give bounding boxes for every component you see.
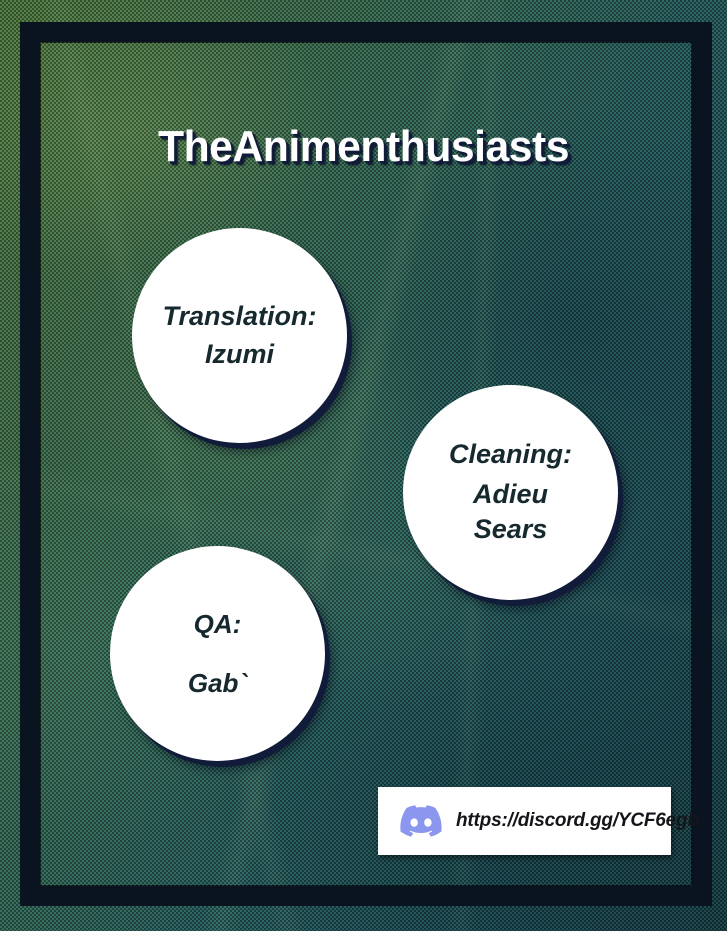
- page-title: TheAnimenthusiasts: [158, 122, 643, 172]
- credits-page: TheAnimenthusiasts Translation: Izumi Cl…: [0, 0, 727, 931]
- discord-invite-bar[interactable]: https://discord.gg/YCF6egb: [378, 787, 671, 855]
- content-area: TheAnimenthusiasts Translation: Izumi Cl…: [40, 42, 692, 886]
- credit-person-name: Izumi: [205, 338, 274, 372]
- credit-bubble-qa: QA: Gab`: [110, 546, 325, 761]
- discord-invite-url[interactable]: https://discord.gg/YCF6egb: [456, 810, 699, 832]
- credit-role-label: Cleaning:: [449, 438, 572, 472]
- credit-person-name: Adieu: [473, 477, 548, 512]
- credit-role-label: Translation:: [162, 300, 316, 334]
- credit-person-name-second: Sears: [474, 512, 548, 547]
- discord-icon: [400, 805, 442, 837]
- credit-person-name: Gab`: [188, 667, 247, 700]
- credit-bubble-translation: Translation: Izumi: [132, 228, 347, 443]
- credit-role-label: QA:: [194, 608, 242, 641]
- credit-bubble-cleaning: Cleaning: Adieu Sears: [403, 385, 618, 600]
